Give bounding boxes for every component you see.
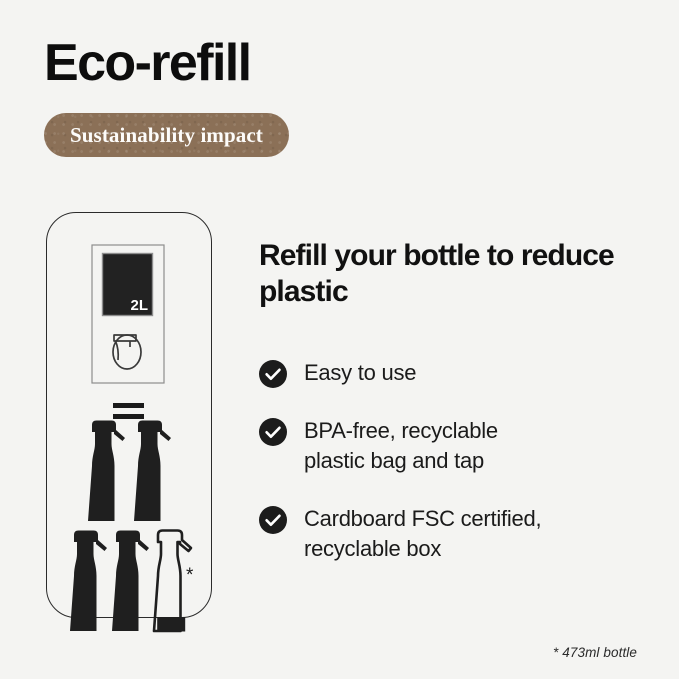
footnote-marker-asterisk: * <box>186 565 194 586</box>
eco-refill-equation-illustration: 2L <box>46 212 212 618</box>
check-circle-icon <box>259 418 287 446</box>
box-volume-label: 2L <box>130 297 148 314</box>
feature-label: Easy to use <box>304 358 416 388</box>
sustainability-impact-badge: Sustainability impact <box>44 113 289 157</box>
check-circle-icon <box>259 506 287 534</box>
spray-bottle-filled <box>112 531 149 632</box>
spray-bottle-row-2: * <box>70 531 194 632</box>
footnote-text: * 473ml bottle <box>553 645 637 660</box>
feature-label: BPA-free, recyclable plastic bag and tap <box>304 416 498 476</box>
feature-label: Cardboard FSC certified, recyclable box <box>304 504 541 564</box>
badge-label: Sustainability impact <box>70 123 263 148</box>
list-item: BPA-free, recyclable plastic bag and tap <box>259 416 629 476</box>
feature-list: Easy to use BPA-free, recyclable plastic… <box>259 358 629 564</box>
equals-sign-icon <box>113 403 144 419</box>
list-item: Cardboard FSC certified, recyclable box <box>259 504 629 564</box>
tap-icon <box>113 335 141 369</box>
list-item: Easy to use <box>259 358 629 388</box>
check-circle-icon <box>259 360 287 388</box>
eco-refill-infographic: Eco-refill Sustainability impact 2L <box>0 0 679 679</box>
main-headline: Refill your bottle to reduce plastic <box>259 238 619 310</box>
spray-bottle-row-1 <box>88 421 171 522</box>
spray-bottle-filled <box>70 531 107 632</box>
refill-box-icon: 2L <box>92 245 164 383</box>
spray-bottle-filled <box>134 421 171 522</box>
spray-bottle-filled <box>88 421 125 522</box>
page-title: Eco-refill <box>44 36 251 91</box>
